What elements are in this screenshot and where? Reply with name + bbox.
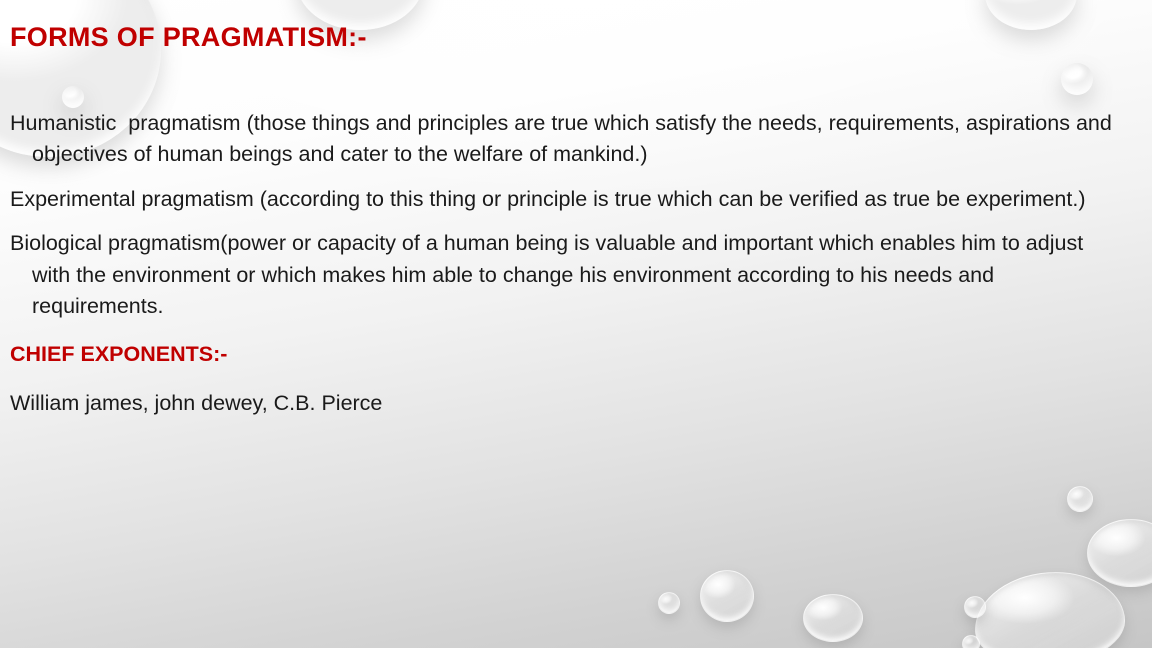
water-droplet-bottom-center-medium-2-icon (803, 594, 863, 642)
paragraph-biological-pragmatism: Biological pragmatism(power or capacity … (10, 228, 1120, 322)
water-droplet-bottom-right-tiny-1-icon (964, 596, 986, 618)
presentation-slide: FORMS OF PRAGMATISM:- Humanistic pragmat… (0, 0, 1152, 648)
water-droplet-top-right-small-icon (1061, 63, 1093, 95)
paragraph-experimental-pragmatism: Experimental pragmatism (according to th… (10, 184, 1120, 215)
water-droplet-bottom-right-large-icon (1087, 519, 1152, 587)
water-droplet-bottom-center-tiny-icon (658, 592, 680, 614)
water-droplet-right-middle-icon (1067, 486, 1093, 512)
paragraph-humanistic-pragmatism: Humanistic pragmatism (those things and … (10, 108, 1120, 171)
water-droplet-bottom-right-blob-icon (975, 572, 1125, 648)
slide-body: Humanistic pragmatism (those things and … (10, 108, 1120, 432)
paragraph-chief-exponents-list: William james, john dewey, C.B. Pierce (10, 388, 1120, 419)
water-droplet-bottom-right-tiny-2-icon (962, 635, 980, 648)
water-droplet-top-left-small-icon (62, 86, 84, 108)
water-droplet-bottom-center-medium-icon (700, 570, 754, 622)
heading-chief-exponents: CHIEF EXPONENTS:- (10, 339, 1120, 370)
slide-title: FORMS OF PRAGMATISM:- (10, 22, 1110, 53)
